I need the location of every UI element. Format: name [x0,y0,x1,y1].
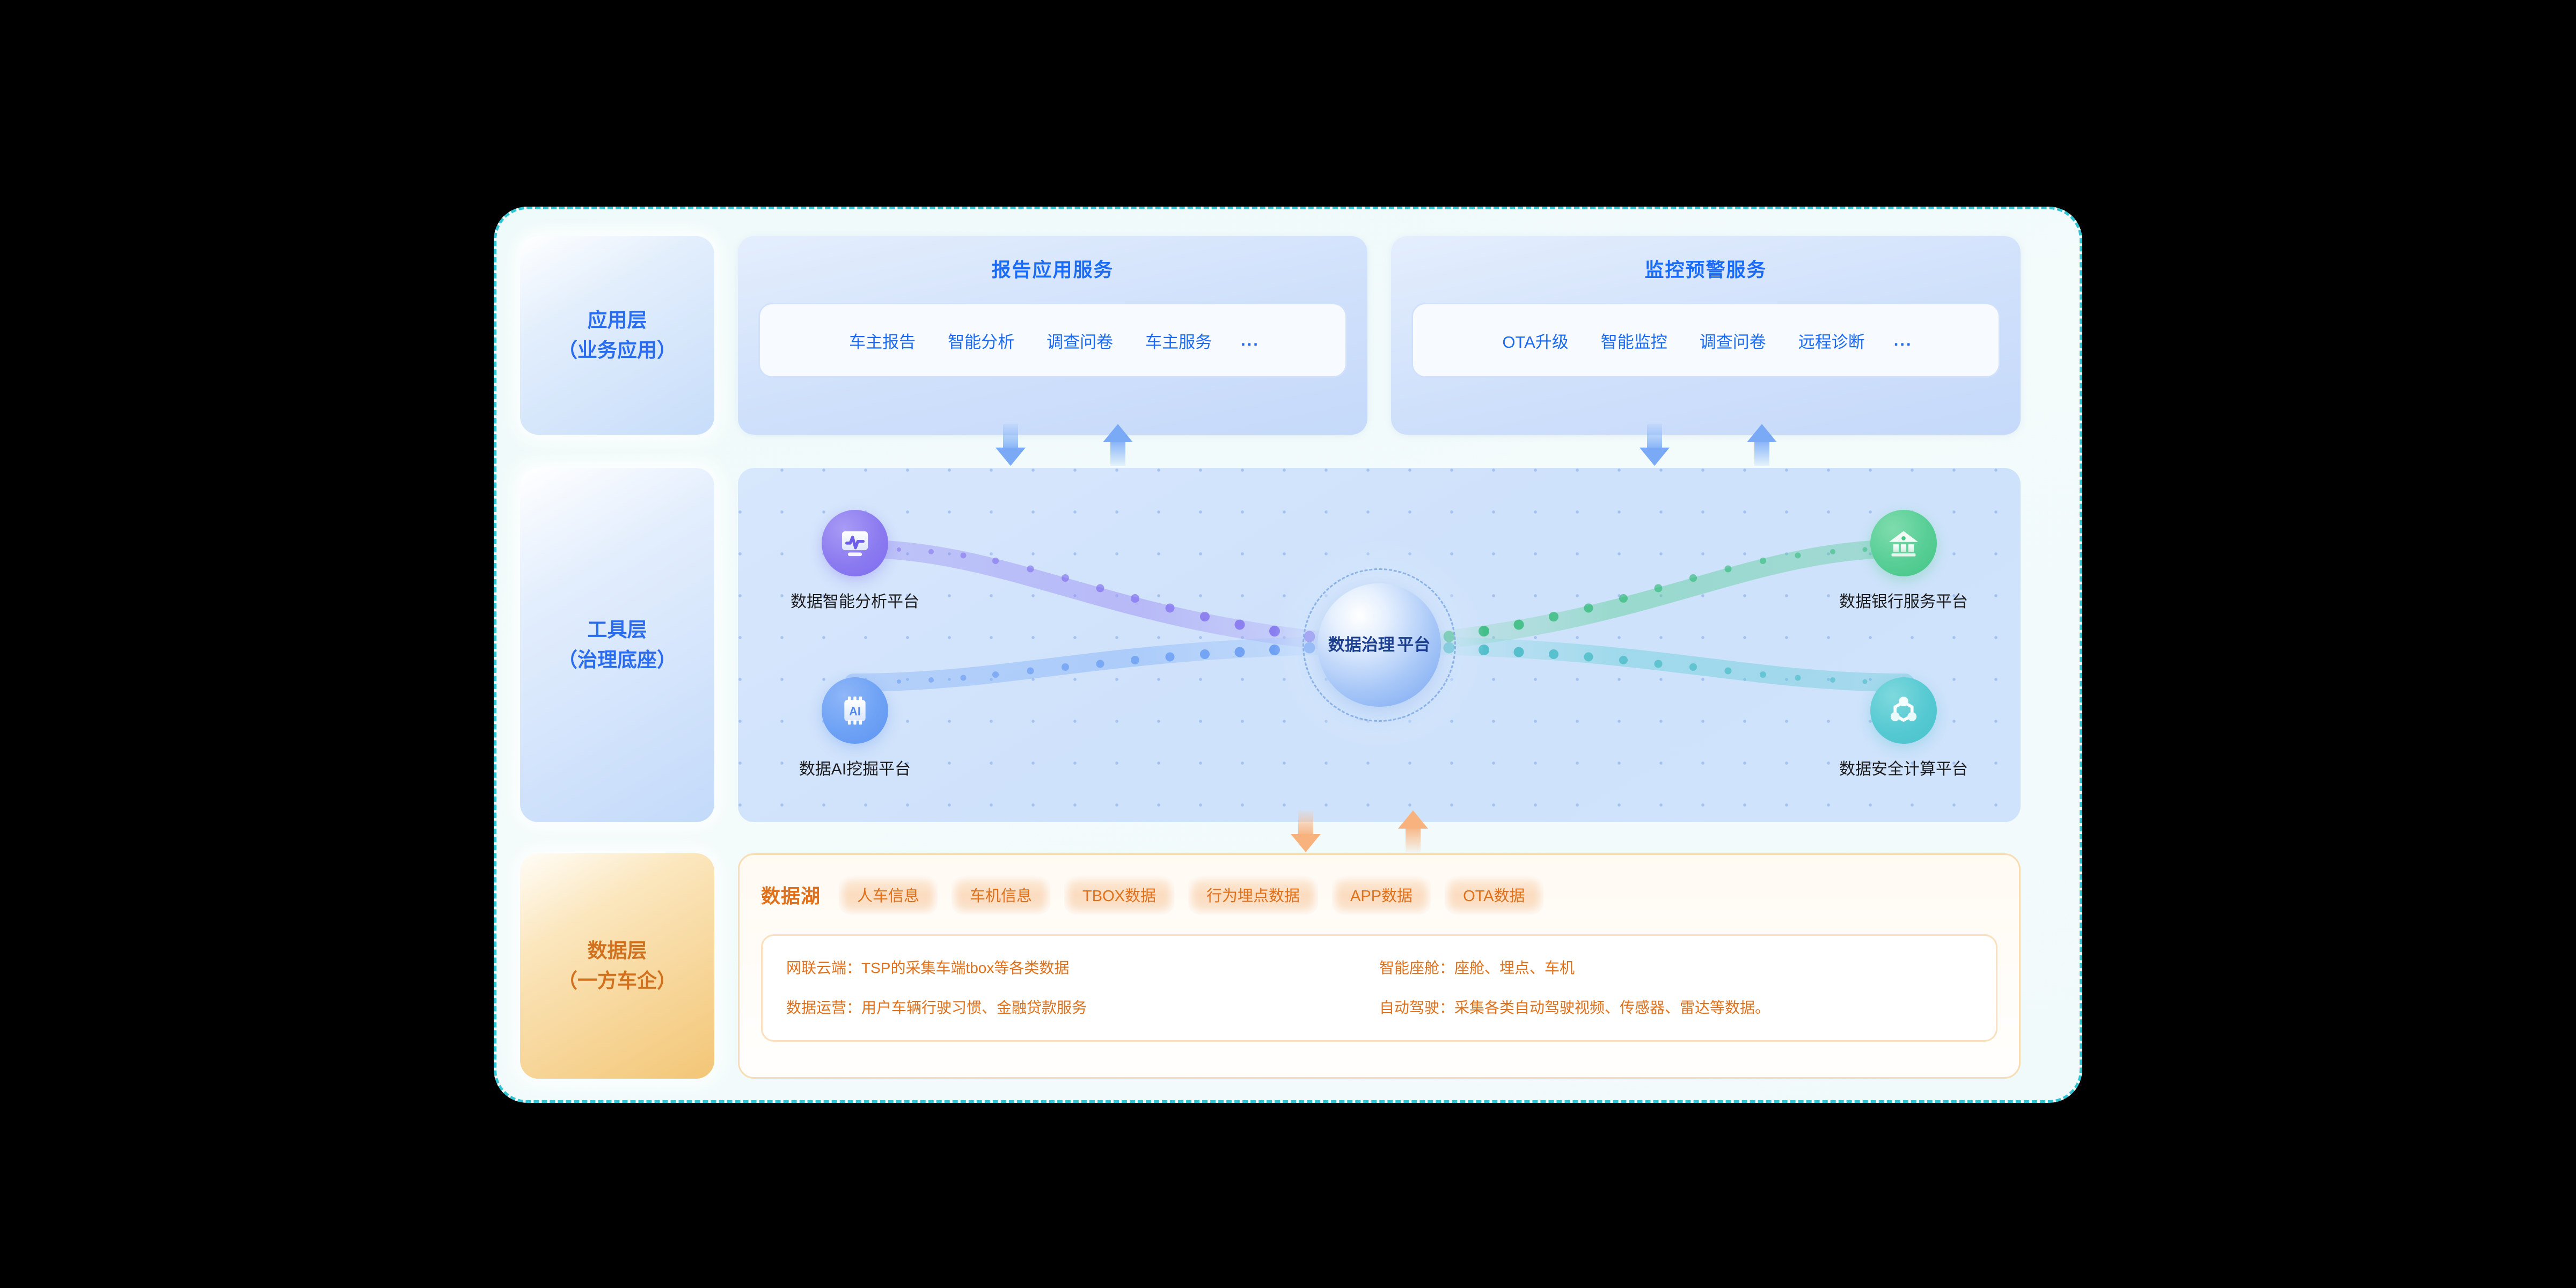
node-data-bank-service-platform[interactable]: 数据银行服务平台 [1823,510,1984,612]
sidebar-item-data-layer[interactable]: 数据层 （一方车企） [520,853,714,1079]
node-label: 数据AI挖掘平台 [774,756,935,779]
data-lake-tag[interactable]: TBOX数据 [1064,875,1174,914]
arrow-up-icon-tool-to-app-left [1103,424,1133,466]
sidebar-data-layer-title: 数据层 [558,936,677,966]
service-item[interactable]: 车主报告 [833,328,932,353]
bank-building-icon [1870,510,1937,576]
data-lake-tag[interactable]: OTA数据 [1445,875,1543,914]
node-data-ai-mining-platform[interactable]: AI 数据AI挖掘平台 [774,677,935,779]
service-item[interactable]: OTA升级 [1486,328,1584,353]
node-label: 数据智能分析平台 [774,588,935,612]
sidebar-tool-layer-title: 工具层 [558,615,677,645]
service-item[interactable]: 智能监控 [1585,328,1684,353]
service-item[interactable]: 调查问卷 [1684,328,1782,353]
node-data-security-computing-platform[interactable]: 数据安全计算平台 [1823,677,1984,779]
description-line: 网联云端：TSP的采集车端tbox等各类数据 [786,956,1379,978]
arrow-down-icon-tool-to-data [1291,810,1321,852]
description-line: 自动驾驶：采集各类自动驾驶视频、传感器、雷达等数据。 [1379,996,1972,1018]
monitor-chart-icon [822,510,888,576]
sidebar-data-layer-subtitle: （一方车企） [558,966,677,996]
sidebar-application-layer-subtitle: （业务应用） [558,335,677,365]
ai-chip-icon: AI [822,677,888,744]
tool-layer: 数据智能分析平台 AI 数据A [738,468,2021,822]
data-lake-tag[interactable]: 行为埋点数据 [1188,875,1318,914]
arrow-up-icon-tool-to-app-right [1747,424,1777,466]
data-lake-tag[interactable]: 车机信息 [952,875,1050,914]
description-line: 数据运营：用户车辆行驶习惯、金融贷款服务 [786,996,1379,1018]
service-item-more[interactable]: ... [1228,331,1272,350]
application-layer: 报告应用服务 车主报告 智能分析 调查问卷 车主服务 ... 监控预警服务 OT… [738,236,2021,435]
main-column: 报告应用服务 车主报告 智能分析 调查问卷 车主服务 ... 监控预警服务 OT… [738,209,2063,1100]
service-panel-report-title: 报告应用服务 [991,254,1114,282]
service-item-more[interactable]: ... [1881,331,1926,350]
service-item[interactable]: 车主服务 [1129,328,1228,353]
node-label: 数据安全计算平台 [1823,756,1984,779]
data-lake-row: 数据湖 人车信息 车机信息 TBOX数据 行为埋点数据 APP数据 OTA数据 [761,873,1997,916]
data-layer: 数据湖 人车信息 车机信息 TBOX数据 行为埋点数据 APP数据 OTA数据 … [738,853,2021,1079]
data-lake-tag[interactable]: APP数据 [1332,875,1431,914]
sidebar-application-layer-title: 应用层 [558,305,677,335]
sidebar-item-application-layer[interactable]: 应用层 （业务应用） [520,236,714,435]
node-label: 数据银行服务平台 [1823,588,1984,612]
arrow-down-icon-app-to-tool-right [1640,424,1670,466]
data-lake-title: 数据湖 [761,881,821,909]
svg-text:AI: AI [849,705,861,718]
service-panel-report-items: 车主报告 智能分析 调查问卷 车主服务 ... [758,303,1347,378]
architecture-diagram-container: 应用层 （业务应用） 工具层 （治理底座） 数据层 （一方车企） 报告应用服务 … [494,207,2082,1103]
description-column-right: 智能座舱：座舱、埋点、车机 自动驾驶：采集各类自动驾驶视频、传感器、雷达等数据。 [1379,956,1972,1020]
hub-title-line1: 数据治理 [1328,635,1395,654]
service-panel-monitoring-title: 监控预警服务 [1644,254,1767,282]
hub-title-line2: 平台 [1397,635,1430,654]
secure-network-icon [1870,677,1937,744]
sidebar-tool-layer-subtitle: （治理底座） [558,645,677,675]
arrow-up-icon-data-to-tool [1398,810,1428,852]
description-column-left: 网联云端：TSP的采集车端tbox等各类数据 数据运营：用户车辆行驶习惯、金融贷… [786,956,1379,1020]
data-layer-description-box: 网联云端：TSP的采集车端tbox等各类数据 数据运营：用户车辆行驶习惯、金融贷… [761,934,1997,1042]
description-line: 智能座舱：座舱、埋点、车机 [1379,956,1972,978]
node-data-analytics-platform[interactable]: 数据智能分析平台 [774,510,935,612]
sidebar-item-tool-layer[interactable]: 工具层 （治理底座） [520,468,714,822]
arrow-down-icon-app-to-tool-left [996,424,1026,466]
service-panel-monitoring-items: OTA升级 智能监控 调查问卷 远程诊断 ... [1411,303,2000,378]
data-lake-tag[interactable]: 人车信息 [839,875,938,914]
service-item[interactable]: 智能分析 [932,328,1030,353]
service-panel-report[interactable]: 报告应用服务 车主报告 智能分析 调查问卷 车主服务 ... [738,236,1367,435]
service-item[interactable]: 调查问卷 [1030,328,1129,353]
hub-sphere: 数据治理 平台 [1318,583,1441,707]
data-governance-platform-hub[interactable]: 数据治理 平台 [1318,583,1441,707]
service-panel-monitoring[interactable]: 监控预警服务 OTA升级 智能监控 调查问卷 远程诊断 ... [1391,236,2021,435]
service-item[interactable]: 远程诊断 [1782,328,1881,353]
